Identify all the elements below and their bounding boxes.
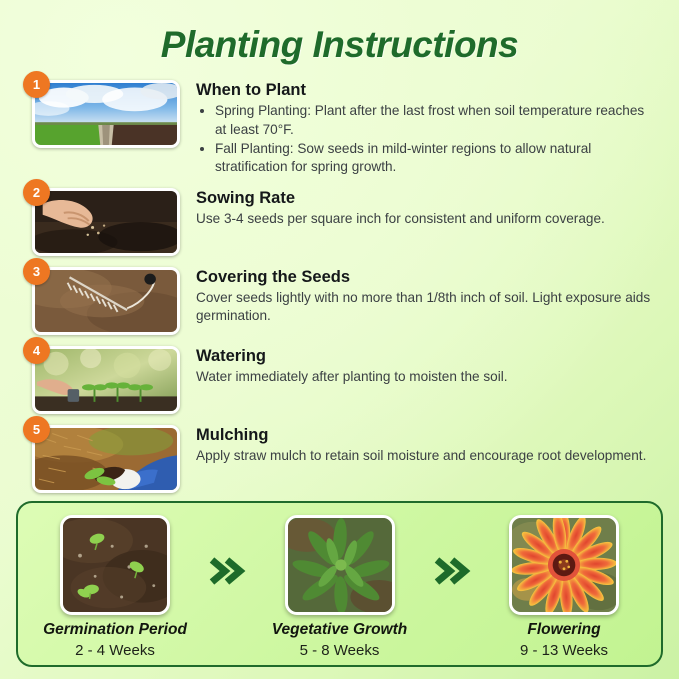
step-thumbnail-wrap: 3 xyxy=(32,267,180,335)
step-item: 1 xyxy=(32,80,657,177)
timeline-stage-name: Vegetative Growth xyxy=(265,621,415,640)
timeline-stage-name: Flowering xyxy=(489,621,639,640)
germination-seedlings-image xyxy=(60,515,170,615)
hand-sowing-seeds-image xyxy=(32,188,180,256)
step-number-badge: 2 xyxy=(23,179,50,206)
step-thumbnail-wrap: 4 xyxy=(32,346,180,414)
step-heading: Covering the Seeds xyxy=(196,268,657,287)
step-bullet: Spring Planting: Plant after the last fr… xyxy=(215,102,657,138)
timeline-stage: Vegetative Growth 5 - 8 Weeks xyxy=(265,515,415,660)
double-chevron-right-icon xyxy=(204,521,250,621)
step-thumbnail-wrap: 5 xyxy=(32,425,180,493)
step-thumbnail-wrap: 2 xyxy=(32,188,180,256)
step-body: Mulching Apply straw mulch to retain soi… xyxy=(196,425,657,466)
steps-list: 1 xyxy=(0,80,679,493)
page-title: Planting Instructions xyxy=(0,0,679,66)
step-bullet: Fall Planting: Sow seeds in mild-winter … xyxy=(215,140,657,176)
step-heading: Mulching xyxy=(196,426,657,445)
timeline-stage: Germination Period 2 - 4 Weeks xyxy=(40,515,190,660)
step-number-badge: 1 xyxy=(23,71,50,98)
step-description: Cover seeds lightly with no more than 1/… xyxy=(196,289,657,325)
timeline-stage-weeks: 5 - 8 Weeks xyxy=(265,642,415,660)
watering-seedlings-image xyxy=(32,346,180,414)
timeline-stage-weeks: 9 - 13 Weeks xyxy=(489,642,639,660)
vegetative-rosette-image xyxy=(285,515,395,615)
growth-timeline-box: Germination Period 2 - 4 Weeks xyxy=(16,501,663,667)
step-body: Sowing Rate Use 3-4 seeds per square inc… xyxy=(196,188,657,229)
rake-on-soil-image xyxy=(32,267,180,335)
timeline-stage-weeks: 2 - 4 Weeks xyxy=(40,642,190,660)
step-description: Use 3-4 seeds per square inch for consis… xyxy=(196,210,657,228)
step-heading: Watering xyxy=(196,347,657,366)
timeline-stage: Flowering 9 - 13 Weeks xyxy=(489,515,639,660)
timeline-stage-name: Germination Period xyxy=(40,621,190,640)
step-item: 5 xyxy=(32,425,657,493)
step-body: When to Plant Spring Planting: Plant aft… xyxy=(196,80,657,177)
step-description: Apply straw mulch to retain soil moistur… xyxy=(196,447,657,465)
straw-mulch-image xyxy=(32,425,180,493)
planting-instructions-poster: Planting Instructions 1 xyxy=(0,0,679,679)
step-body: Watering Water immediately after plantin… xyxy=(196,346,657,387)
step-bullet-list: Spring Planting: Plant after the last fr… xyxy=(196,102,657,175)
step-item: 3 xyxy=(32,267,657,335)
step-item: 2 xyxy=(32,188,657,256)
step-item: 4 xyxy=(32,346,657,414)
step-number-badge: 3 xyxy=(23,258,50,285)
double-chevron-right-icon xyxy=(429,521,475,621)
blanket-flower-image xyxy=(509,515,619,615)
step-number-badge: 5 xyxy=(23,416,50,443)
step-heading: Sowing Rate xyxy=(196,189,657,208)
step-heading: When to Plant xyxy=(196,81,657,100)
field-with-clouds-image xyxy=(32,80,180,148)
step-thumbnail-wrap: 1 xyxy=(32,80,180,148)
step-body: Covering the Seeds Cover seeds lightly w… xyxy=(196,267,657,326)
step-description: Water immediately after planting to mois… xyxy=(196,368,657,386)
step-number-badge: 4 xyxy=(23,337,50,364)
